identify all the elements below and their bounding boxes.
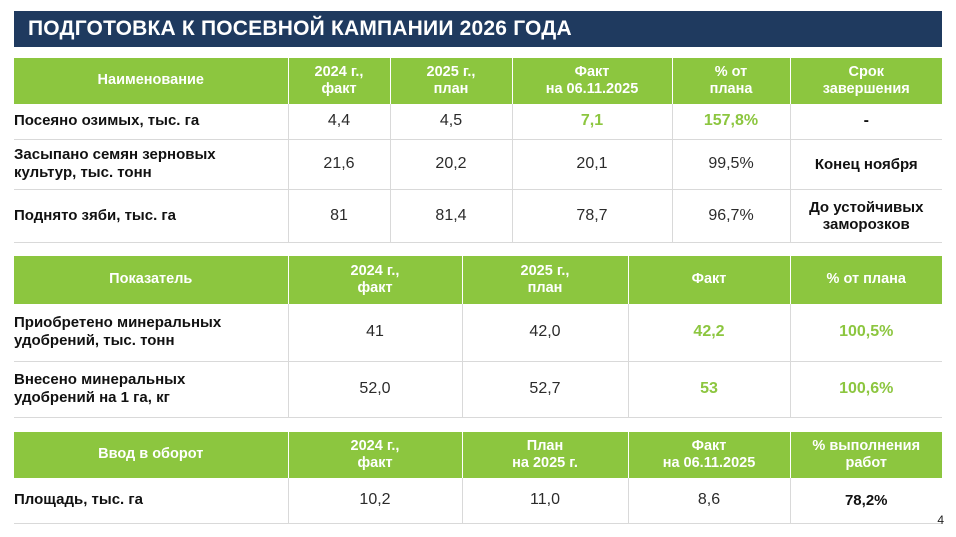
cell-2025-plan: 52,7 <box>462 361 628 417</box>
th-indicator: Показатель <box>14 256 288 304</box>
th-2024-fact-line2: факт <box>289 455 462 472</box>
cell-deadline: До устойчивых заморозков <box>790 189 942 242</box>
row-label-line1: Внесено минеральных <box>14 371 288 389</box>
row-label: Площадь, тыс. га <box>14 478 288 523</box>
cell-2025-plan: 20,2 <box>390 139 512 189</box>
table-row: Засыпано семян зерновых культур, тыс. то… <box>14 139 942 189</box>
row-label-line1: Приобретено минеральных <box>14 314 288 332</box>
slide-root: ПОДГОТОВКА К ПОСЕВНОЙ КАМПАНИИ 2026 ГОДА… <box>0 0 956 537</box>
cell-2024-fact: 10,2 <box>288 478 462 523</box>
row-label: Засыпано семян зерновых культур, тыс. то… <box>14 139 288 189</box>
th-2025-plan-line2: план <box>463 280 628 297</box>
th-fact-line1: Факт <box>629 271 790 288</box>
row-label: Поднято зяби, тыс. га <box>14 189 288 242</box>
th-plan-2025: План на 2025 г. <box>462 432 628 478</box>
table-row: Внесено минеральных удобрений на 1 га, к… <box>14 361 942 417</box>
th-2025-plan-line1: 2025 г., <box>391 64 512 81</box>
page-title: ПОДГОТОВКА К ПОСЕВНОЙ КАМПАНИИ 2026 ГОДА <box>28 17 572 41</box>
cell-deadline: - <box>790 104 942 139</box>
th-fact-date-line2: на 06.11.2025 <box>513 81 672 98</box>
cell-pct-plan: 100,6% <box>790 361 942 417</box>
table-row: Посеяно озимых, тыс. га 4,4 4,5 7,1 157,… <box>14 104 942 139</box>
cell-fact: 7,1 <box>512 104 672 139</box>
th-pct-plan-line1: % от плана <box>791 271 943 288</box>
th-2025-plan-line1: 2025 г., <box>463 263 628 280</box>
cell-2024-fact: 81 <box>288 189 390 242</box>
cell-2025-plan: 81,4 <box>390 189 512 242</box>
table-row: Приобретено минеральных удобрений, тыс. … <box>14 304 942 361</box>
th-2024-fact-line2: факт <box>289 81 390 98</box>
cell-pct-plan: 157,8% <box>672 104 790 139</box>
th-2024-fact: 2024 г., факт <box>288 256 462 304</box>
row-label-line2: удобрений на 1 га, кг <box>14 389 288 407</box>
row-label: Посеяно озимых, тыс. га <box>14 104 288 139</box>
th-2024-fact-line1: 2024 г., <box>289 438 462 455</box>
cell-fact: 20,1 <box>512 139 672 189</box>
th-name-line1: Наименование <box>14 72 288 89</box>
th-fact-date-line1: Факт <box>629 438 790 455</box>
cell-deadline: Конец ноября <box>790 139 942 189</box>
table-header-row: Показатель 2024 г., факт 2025 г., план Ф… <box>14 256 942 304</box>
th-indicator-line1: Показатель <box>14 271 288 288</box>
th-2025-plan: 2025 г., план <box>462 256 628 304</box>
row-label-line1: Засыпано семян зерновых <box>14 146 288 164</box>
cell-fact: 53 <box>628 361 790 417</box>
th-2024-fact: 2024 г., факт <box>288 432 462 478</box>
cell-deadline-line1: До устойчивых <box>791 199 943 216</box>
row-label-line1: Поднято зяби, тыс. га <box>14 207 288 225</box>
th-plan-2025-line2: на 2025 г. <box>463 455 628 472</box>
table-header-row: Ввод в оборот 2024 г., факт План на 2025… <box>14 432 942 478</box>
th-pct-plan-line1: % от <box>673 64 790 81</box>
cell-pct-plan: 96,7% <box>672 189 790 242</box>
cell-fact: 78,7 <box>512 189 672 242</box>
table-header-row: Наименование 2024 г., факт 2025 г., план… <box>14 58 942 104</box>
th-deadline-line1: Срок <box>791 64 943 81</box>
th-2024-fact: 2024 г., факт <box>288 58 390 104</box>
cell-2024-fact: 4,4 <box>288 104 390 139</box>
th-fact-date: Факт на 06.11.2025 <box>512 58 672 104</box>
th-fact: Факт <box>628 256 790 304</box>
th-pct-plan-line2: плана <box>673 81 790 98</box>
cell-2024-fact: 41 <box>288 304 462 361</box>
table-mineral-fertilizers: Показатель 2024 г., факт 2025 г., план Ф… <box>14 256 942 418</box>
row-label-line2: удобрений, тыс. тонн <box>14 332 288 350</box>
row-label-line2: культур, тыс. тонн <box>14 164 288 182</box>
page-number: 4 <box>937 513 944 527</box>
th-land-turnover-line1: Ввод в оборот <box>14 446 288 463</box>
table-land-turnover: Ввод в оборот 2024 г., факт План на 2025… <box>14 432 942 524</box>
cell-2024-fact: 52,0 <box>288 361 462 417</box>
cell-deadline-line1: - <box>791 112 943 130</box>
th-plan-2025-line1: План <box>463 438 628 455</box>
cell-plan-2025: 11,0 <box>462 478 628 523</box>
table-sowing-campaign: Наименование 2024 г., факт 2025 г., план… <box>14 58 942 243</box>
cell-2024-fact: 21,6 <box>288 139 390 189</box>
cell-pct-plan: 99,5% <box>672 139 790 189</box>
th-2024-fact-line1: 2024 г., <box>289 64 390 81</box>
th-pct-done-line2: работ <box>791 455 943 472</box>
th-2024-fact-line1: 2024 г., <box>289 263 462 280</box>
th-fact-date: Факт на 06.11.2025 <box>628 432 790 478</box>
th-pct-plan: % от плана <box>790 256 942 304</box>
th-pct-plan: % от плана <box>672 58 790 104</box>
th-2025-plan: 2025 г., план <box>390 58 512 104</box>
th-deadline: Срок завершения <box>790 58 942 104</box>
cell-fact: 42,2 <box>628 304 790 361</box>
cell-pct-plan: 100,5% <box>790 304 942 361</box>
th-pct-done-line1: % выполнения <box>791 438 943 455</box>
th-2025-plan-line2: план <box>391 81 512 98</box>
row-label-line1: Посеяно озимых, тыс. га <box>14 112 288 130</box>
th-2024-fact-line2: факт <box>289 280 462 297</box>
cell-fact: 8,6 <box>628 478 790 523</box>
table-row: Поднято зяби, тыс. га 81 81,4 78,7 96,7%… <box>14 189 942 242</box>
row-label: Приобретено минеральных удобрений, тыс. … <box>14 304 288 361</box>
cell-2025-plan: 4,5 <box>390 104 512 139</box>
cell-pct-done: 78,2% <box>790 478 942 523</box>
row-label: Внесено минеральных удобрений на 1 га, к… <box>14 361 288 417</box>
th-land-turnover: Ввод в оборот <box>14 432 288 478</box>
row-label-line1: Площадь, тыс. га <box>14 491 288 509</box>
th-fact-date-line2: на 06.11.2025 <box>629 455 790 472</box>
cell-deadline-line2: заморозков <box>791 216 943 233</box>
th-deadline-line2: завершения <box>791 81 943 98</box>
th-fact-date-line1: Факт <box>513 64 672 81</box>
th-name: Наименование <box>14 58 288 104</box>
slide-title-bar: ПОДГОТОВКА К ПОСЕВНОЙ КАМПАНИИ 2026 ГОДА <box>14 11 942 47</box>
cell-2025-plan: 42,0 <box>462 304 628 361</box>
table-row: Площадь, тыс. га 10,2 11,0 8,6 78,2% <box>14 478 942 523</box>
th-pct-done: % выполнения работ <box>790 432 942 478</box>
cell-deadline-line1: Конец ноября <box>791 156 943 173</box>
